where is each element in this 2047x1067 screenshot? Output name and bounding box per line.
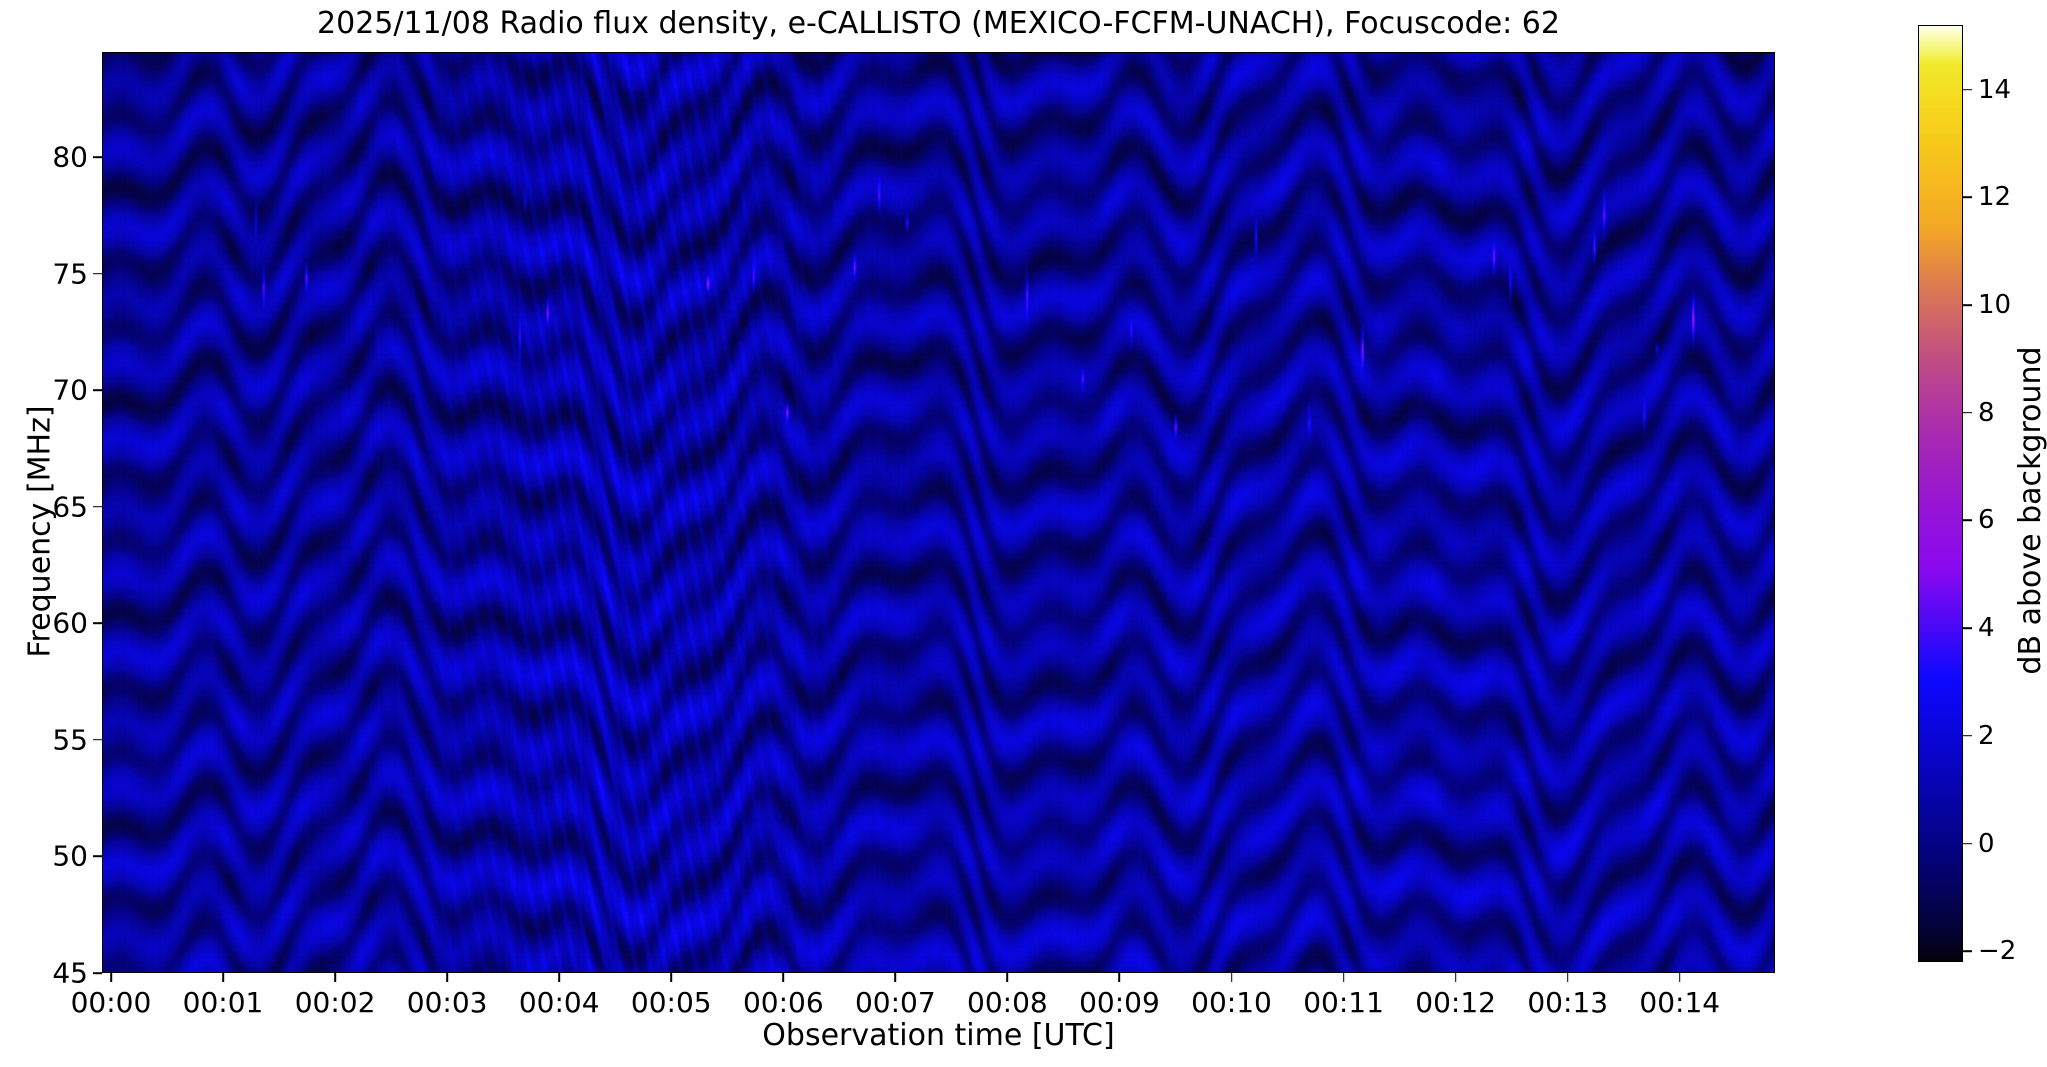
- y-tick-label: 80: [52, 140, 88, 173]
- x-tick-label: 00:06: [743, 986, 824, 1019]
- colorbar-gradient: [1919, 26, 1962, 961]
- chart-title: 2025/11/08 Radio flux density, e-CALLIST…: [102, 4, 1775, 44]
- x-tick-label: 00:09: [1079, 986, 1160, 1019]
- x-tick-label: 00:03: [407, 986, 488, 1019]
- colorbar-tick-label: 6: [1978, 505, 1995, 535]
- y-tick-label: 60: [52, 607, 88, 640]
- colorbar-tick-mark: [1963, 197, 1972, 199]
- spectrogram-image: [103, 53, 1774, 972]
- x-tick-label: 00:12: [1415, 986, 1496, 1019]
- x-tick-mark: [1567, 973, 1569, 982]
- colorbar-tick-label: 14: [1978, 75, 2011, 105]
- x-tick-mark: [1455, 973, 1457, 982]
- colorbar[interactable]: [1918, 25, 1963, 962]
- colorbar-tick-label: 2: [1978, 721, 1995, 751]
- x-tick-mark: [783, 973, 785, 982]
- colorbar-tick-mark: [1963, 412, 1972, 414]
- x-tick-mark: [1007, 973, 1009, 982]
- colorbar-tick-mark: [1963, 950, 1972, 952]
- x-tick-label: 00:02: [295, 986, 376, 1019]
- x-tick-mark: [895, 973, 897, 982]
- y-tick-mark: [93, 972, 102, 974]
- x-tick-mark: [1231, 973, 1233, 982]
- colorbar-label: dB above background: [2013, 42, 2047, 979]
- y-tick-mark: [93, 739, 102, 741]
- y-tick-mark: [93, 156, 102, 158]
- colorbar-tick-label: 4: [1978, 613, 1995, 643]
- x-tick-label: 00:10: [1191, 986, 1272, 1019]
- x-tick-mark: [670, 973, 672, 982]
- y-tick-mark: [93, 506, 102, 508]
- x-tick-mark: [558, 973, 560, 982]
- x-tick-mark: [222, 973, 224, 982]
- x-tick-mark: [446, 973, 448, 982]
- y-tick-mark: [93, 622, 102, 624]
- x-tick-mark: [1343, 973, 1345, 982]
- colorbar-tick-label: 12: [1978, 182, 2011, 212]
- x-tick-mark: [1119, 973, 1121, 982]
- y-tick-mark: [93, 389, 102, 391]
- y-tick-label: 55: [52, 723, 88, 756]
- x-tick-mark: [1679, 973, 1681, 982]
- colorbar-tick-label: 10: [1978, 290, 2011, 320]
- colorbar-tick-mark: [1963, 520, 1972, 522]
- colorbar-tick-mark: [1963, 89, 1972, 91]
- x-tick-label: 00:05: [631, 986, 712, 1019]
- x-tick-mark: [334, 973, 336, 982]
- colorbar-tick-label: 8: [1978, 398, 1995, 428]
- y-tick-label: 70: [52, 374, 88, 407]
- y-tick-mark: [93, 273, 102, 275]
- x-axis-label: Observation time [UTC]: [102, 1018, 1775, 1053]
- y-tick-label: 65: [52, 490, 88, 523]
- x-tick-mark: [110, 973, 112, 982]
- y-tick-mark: [93, 856, 102, 858]
- y-axis-label-container: Frequency [MHz]: [10, 52, 46, 973]
- colorbar-tick-label: −2: [1978, 936, 2016, 966]
- y-tick-label: 50: [52, 840, 88, 873]
- x-tick-label: 00:01: [183, 986, 264, 1019]
- x-tick-label: 00:04: [519, 986, 600, 1019]
- x-tick-label: 00:13: [1527, 986, 1608, 1019]
- y-tick-label: 45: [52, 957, 88, 990]
- colorbar-tick-label: 0: [1978, 829, 1995, 859]
- x-tick-label: 00:08: [967, 986, 1048, 1019]
- x-tick-label: 00:11: [1303, 986, 1384, 1019]
- colorbar-tick-mark: [1963, 735, 1972, 737]
- x-tick-label: 00:07: [855, 986, 936, 1019]
- figure-canvas: 2025/11/08 Radio flux density, e-CALLIST…: [0, 0, 2047, 1067]
- colorbar-tick-mark: [1963, 843, 1972, 845]
- colorbar-label-container: dB above background: [2012, 25, 2047, 962]
- spectrogram-plot-area[interactable]: [102, 52, 1775, 973]
- x-tick-label: 00:00: [71, 986, 152, 1019]
- y-tick-label: 75: [52, 257, 88, 290]
- y-axis-label: Frequency [MHz]: [23, 72, 58, 992]
- colorbar-tick-mark: [1963, 304, 1972, 306]
- x-tick-label: 00:14: [1639, 986, 1720, 1019]
- colorbar-tick-mark: [1963, 627, 1972, 629]
